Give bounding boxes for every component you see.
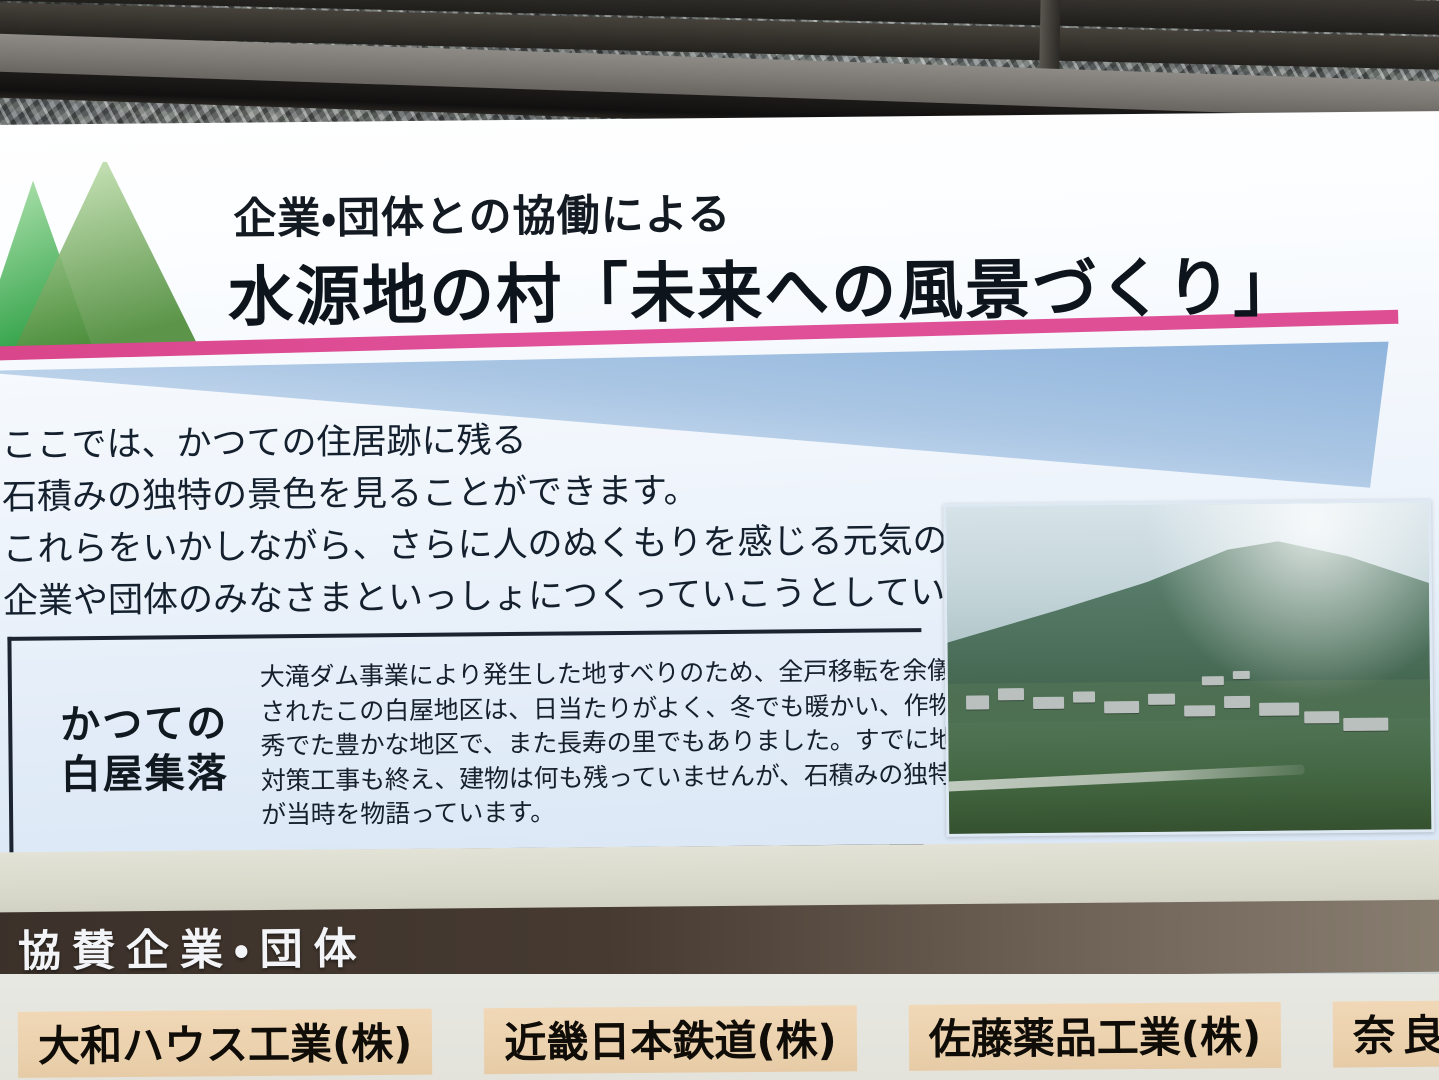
caption-title-line-2: 白屋集落 (60, 749, 228, 801)
sponsor-name-4: 奈良交通(株) (1353, 1000, 1439, 1063)
shiraya-village-photo (943, 499, 1434, 837)
sponsor-name-1: 大和ハウス工業(株) (38, 1009, 413, 1073)
caption-body: 大滝ダム事業により発生した地すべりのため、全戸移転を余儀なく されたこの白屋地区… (260, 653, 1054, 833)
sponsor-chip-4: 奈良交通(株) (1333, 999, 1439, 1068)
sign-panel: 企業・団体との協働による 水源地の村「未来への風景づくり」 ここでは、かつての住… (0, 111, 1439, 865)
sponsor-heading-band: 協賛企業・団体 (0, 900, 1439, 985)
railing-post (1039, 0, 1061, 70)
green-mountains-logo (0, 161, 227, 363)
sponsor-heading-label: 協賛企業・団体 (18, 914, 368, 979)
sign-kicker: 企業・団体との協働による (233, 180, 731, 247)
sponsor-chip-1: 大和ハウス工業(株) (18, 1009, 433, 1078)
sponsor-strip: 大和ハウス工業(株) 近畿日本鉄道(株) 佐藤薬品工業(株) 奈良交通(株) (0, 974, 1439, 1080)
signboard-scene: 企業・団体との協働による 水源地の村「未来への風景づくり」 ここでは、かつての住… (0, 0, 1439, 1080)
caption-title-line-1: かつての (60, 699, 228, 751)
sponsor-name-2: 近畿日本鉄道(株) (504, 1006, 837, 1070)
sign-headline: 水源地の村「未来への風景づくり」 (228, 234, 1301, 338)
caption-box: かつての 白屋集落 大滝ダム事業により発生した地すべりのため、全戸移転を余儀なく… (7, 628, 923, 857)
photo-mist (1139, 502, 1430, 708)
sponsor-name-3: 佐藤薬品工業(株) (929, 1003, 1262, 1067)
caption-title: かつての 白屋集落 (60, 699, 229, 801)
sponsor-chip-2: 近畿日本鉄道(株) (484, 1005, 857, 1074)
caption-body-line-5: が当時を物語っています。 (261, 791, 1054, 833)
sponsor-chip-3: 佐藤薬品工業(株) (909, 1002, 1282, 1071)
